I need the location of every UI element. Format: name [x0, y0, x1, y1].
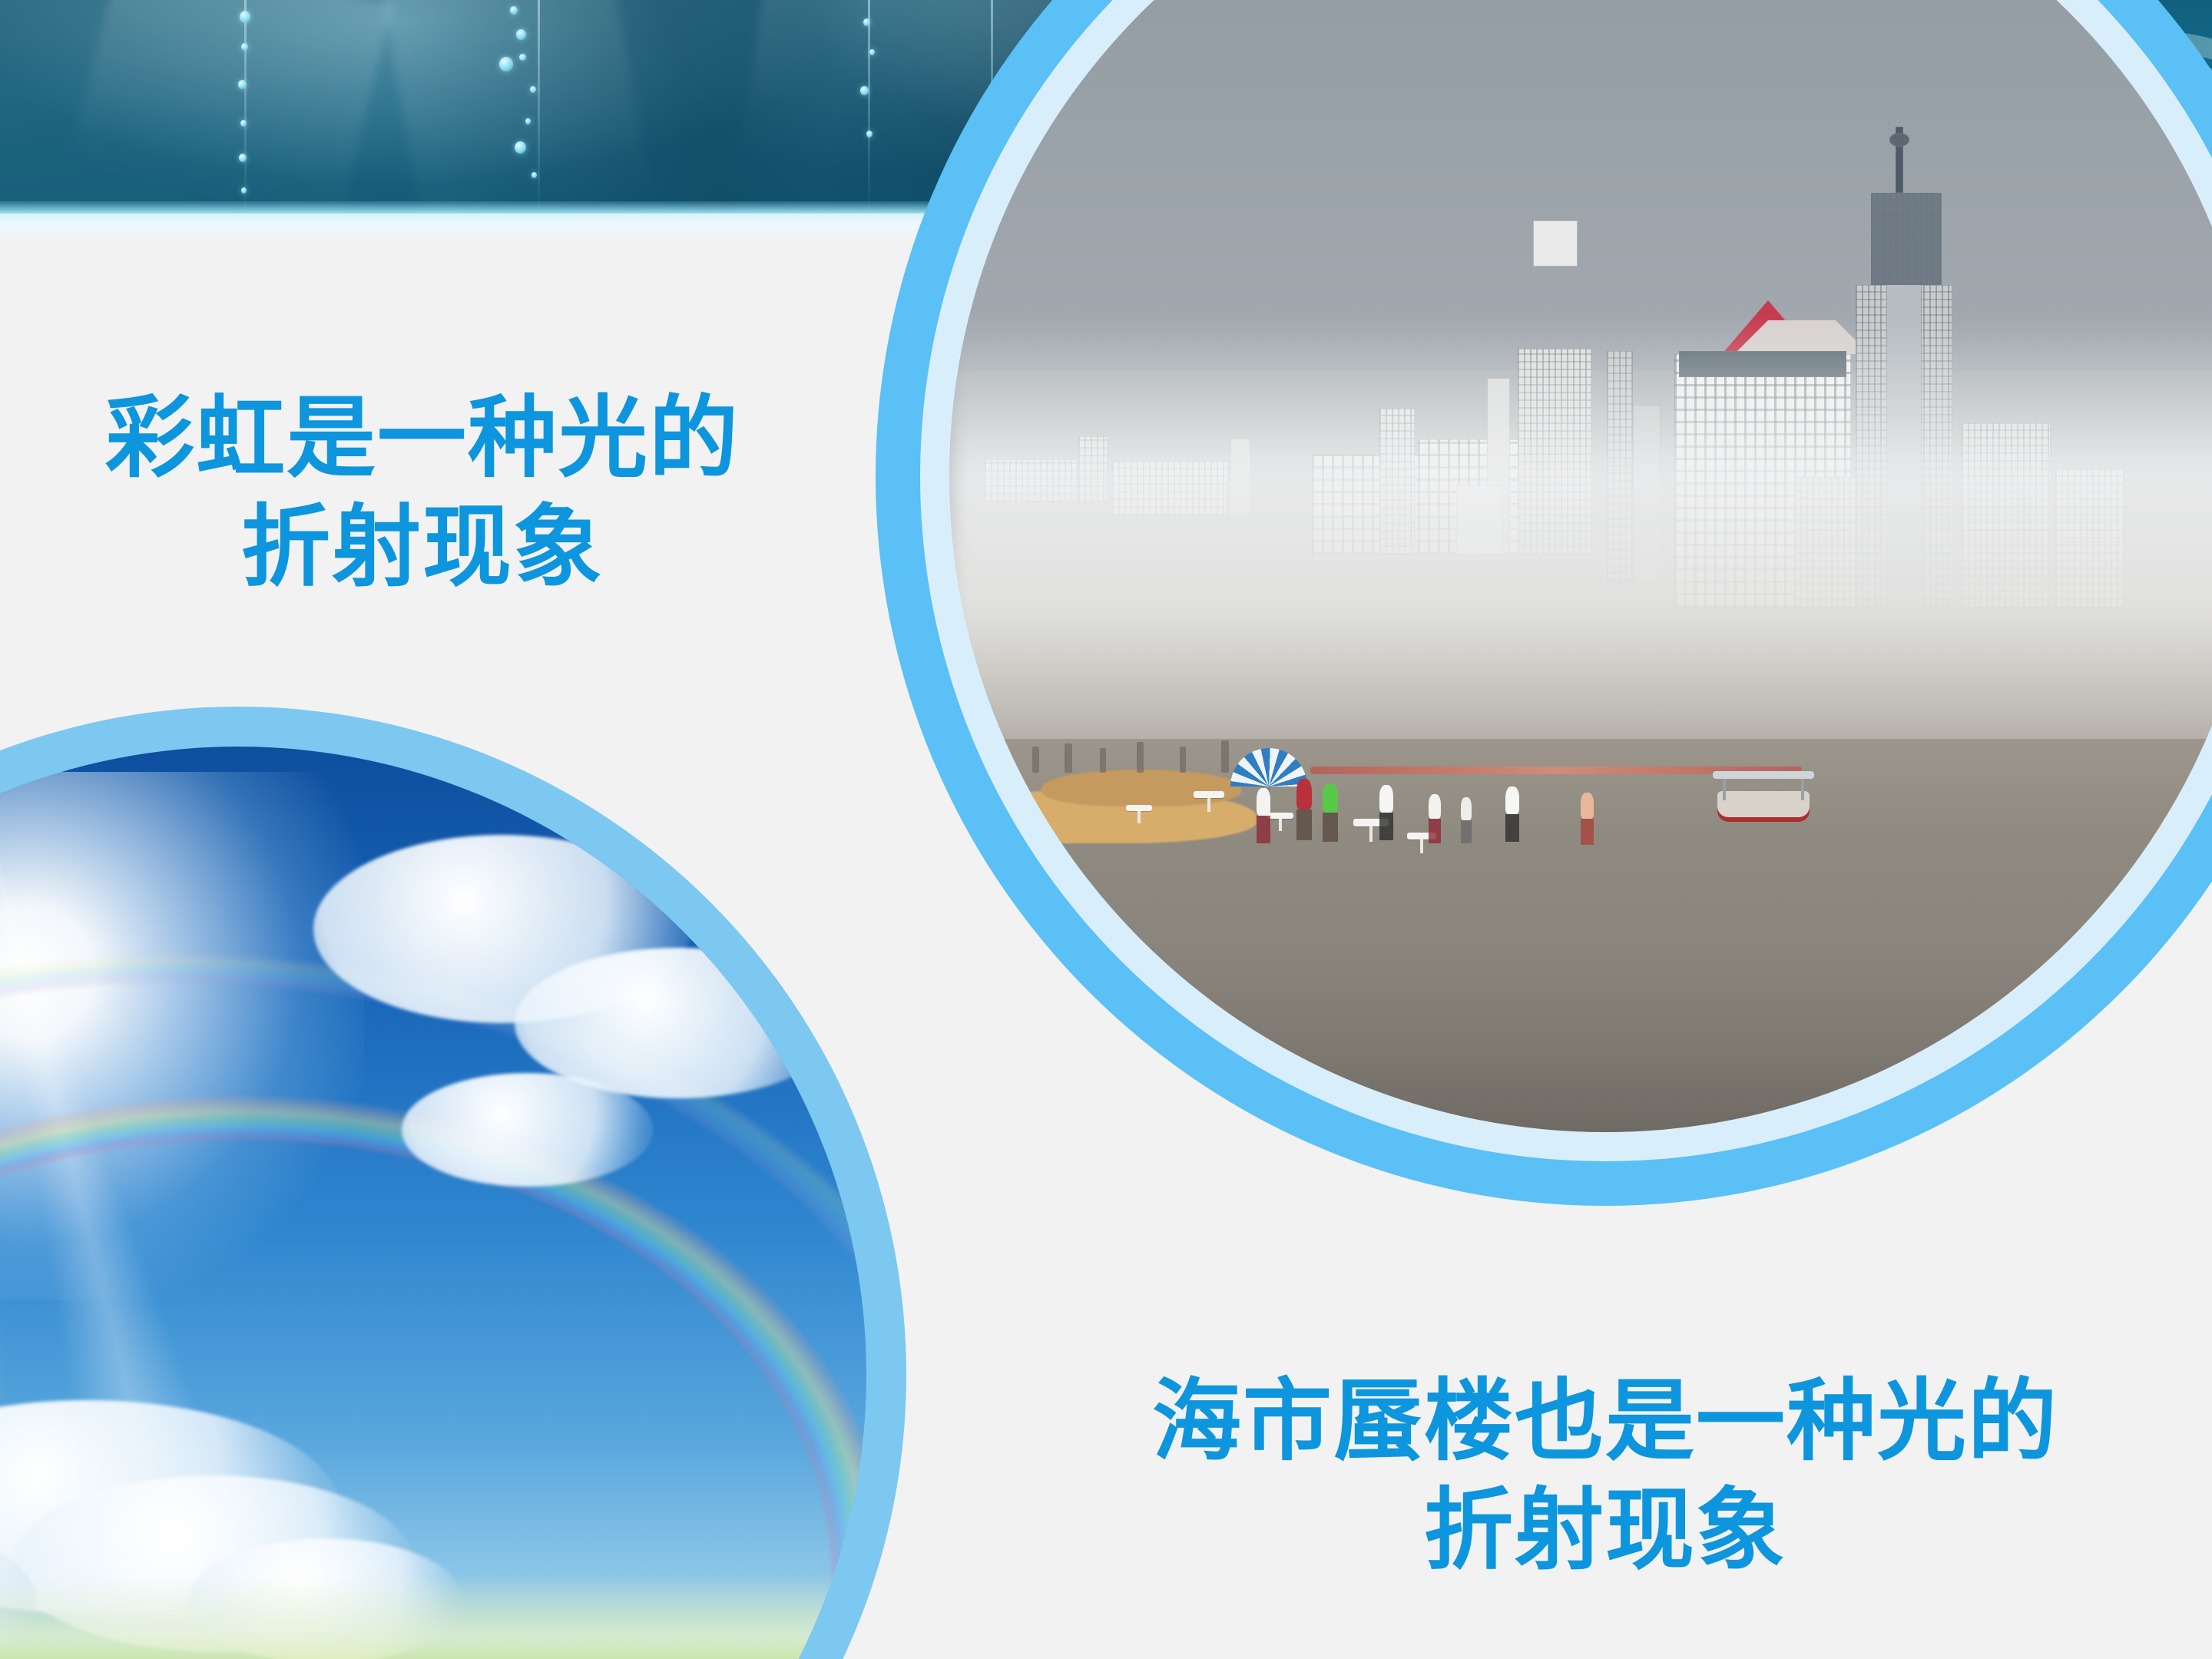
- title-mirage-line2: 折射现象: [1075, 1476, 2135, 1585]
- title-rainbow-line2: 折射现象: [46, 493, 799, 602]
- rainbow-photograph: [0, 747, 866, 1659]
- title-rainbow-line1: 彩虹是一种光的: [105, 388, 740, 488]
- mirage-photograph: [949, 0, 2212, 1132]
- title-rainbow: 彩虹是一种光的 折射现象: [46, 384, 799, 601]
- title-mirage-line1: 海市蜃楼也是一种光的: [1152, 1371, 2058, 1471]
- title-mirage: 海市蜃楼也是一种光的 折射现象: [1075, 1367, 2135, 1584]
- beach-umbrella-icon: [1230, 748, 1307, 786]
- mirage-photo-circle: [876, 0, 2212, 1206]
- pedal-boat-icon: [1717, 791, 1810, 822]
- slide-canvas: 彩虹是一种光的 折射现象 海市蜃楼也是一种光的 折射现象: [0, 0, 2212, 1659]
- rainbow-photo-circle: [0, 707, 906, 1659]
- beach-water: [949, 739, 2212, 1132]
